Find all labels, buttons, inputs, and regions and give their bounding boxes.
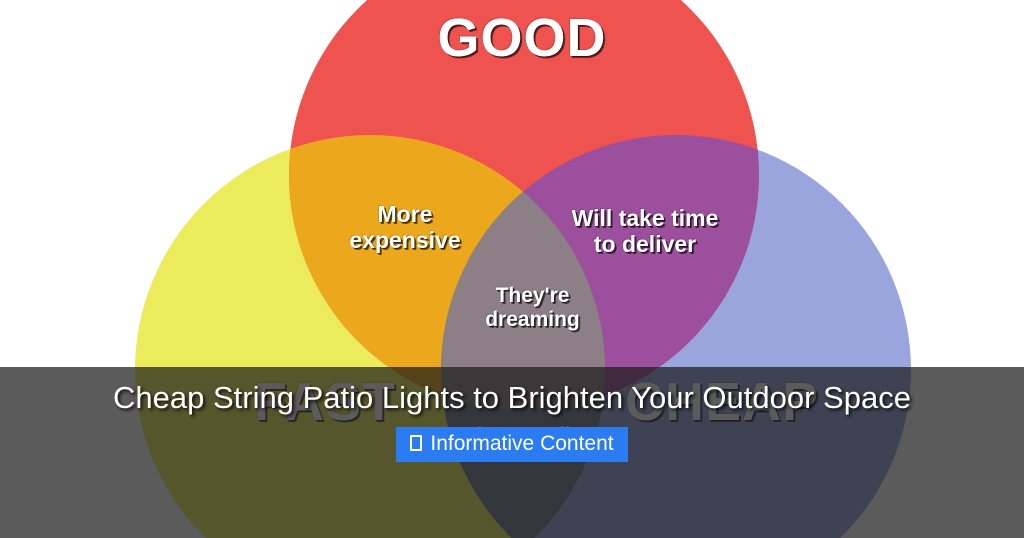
status-badge-label: Informative Content (430, 433, 613, 454)
missing-glyph-box-icon (410, 435, 422, 451)
badge-row: Informative Content (0, 427, 1024, 462)
status-badge[interactable]: Informative Content (396, 427, 627, 462)
page-title: Cheap String Patio Lights to Brighten Yo… (42, 378, 982, 418)
caption-overlay: Cheap String Patio Lights to Brighten Yo… (0, 378, 1024, 462)
screenshot-root: GOOD FAST CHEAP More expensive Will take… (0, 0, 1024, 538)
